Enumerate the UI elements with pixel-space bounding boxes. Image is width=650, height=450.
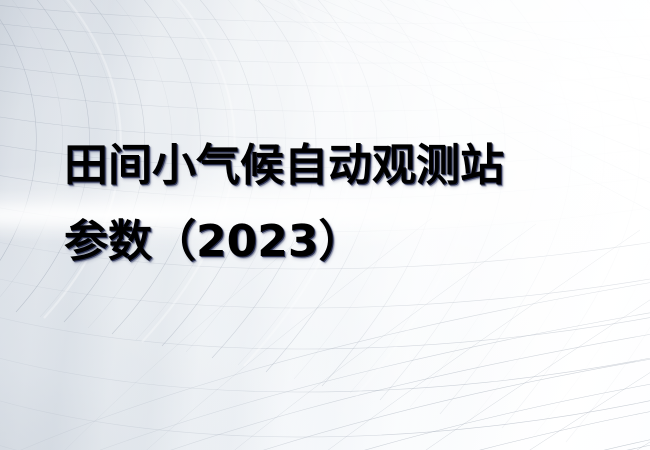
title-slide: 田间小气候自动观测站 参数（2023） bbox=[0, 0, 650, 450]
title-line-1: 田间小气候自动观测站 bbox=[64, 128, 624, 204]
slide-title: 田间小气候自动观测站 参数（2023） bbox=[64, 128, 624, 280]
title-line-2: 参数（2023） bbox=[64, 204, 624, 280]
